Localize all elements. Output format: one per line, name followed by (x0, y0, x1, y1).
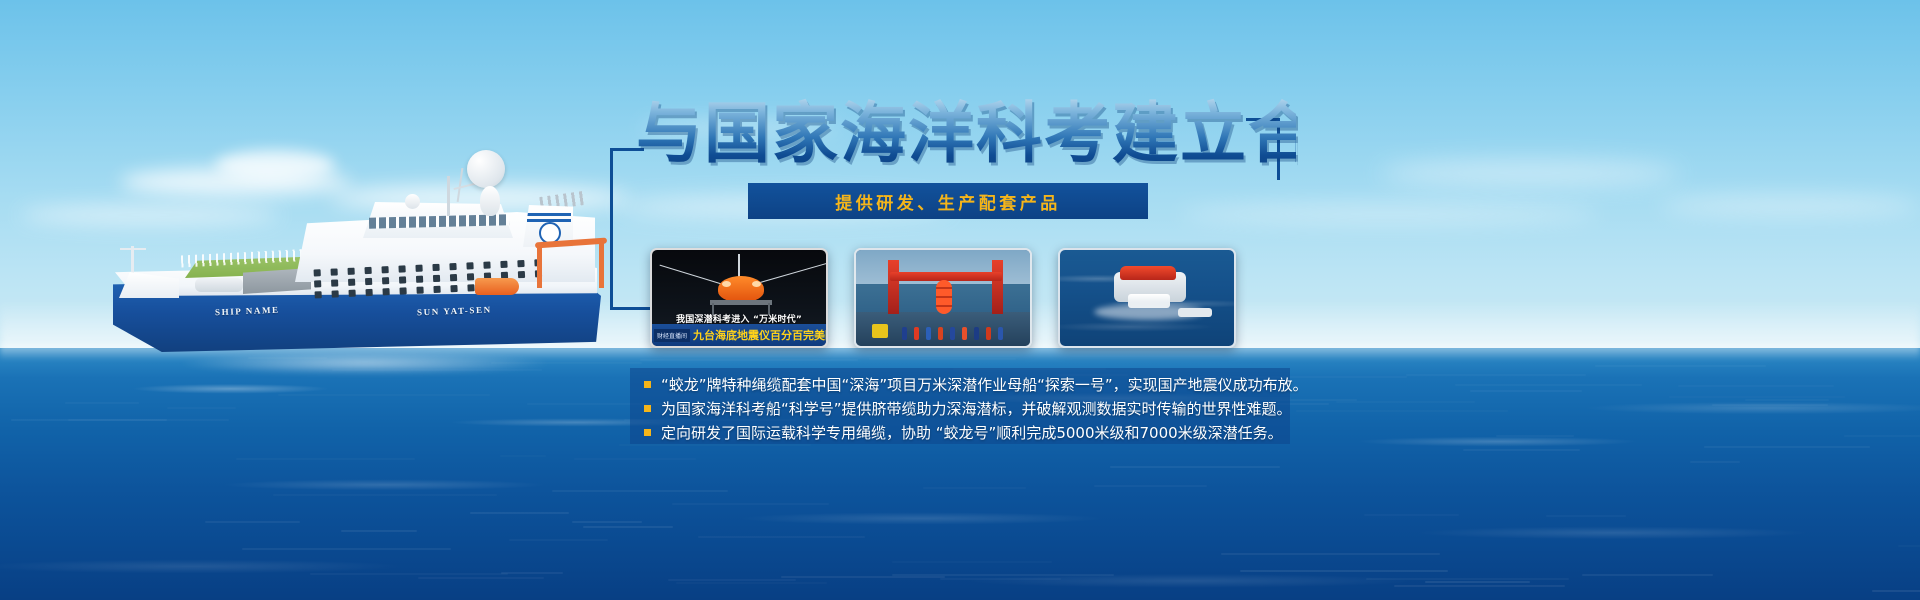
cloud-icon (1180, 205, 1600, 223)
float-string-icon (936, 280, 952, 314)
research-vessel-image: SHIP NAME SUN YAT-SEN (95, 150, 615, 380)
page-title: 与国家海洋科考建立合作 (636, 96, 1296, 172)
list-item: 定向研发了国际运载科学专用绳缆，协助 “蛟龙号”顺利完成5000米级和7000米… (630, 422, 1290, 446)
bullet-marker-icon (644, 405, 651, 412)
deck-equipment (872, 324, 888, 338)
bullet-text: 为国家海洋科考船“科学号”提供脐带缆助力深海潜标，并破解观测数据实时传输的世界性… (661, 398, 1292, 420)
submersible-icon (718, 276, 764, 302)
cloud-icon (1380, 160, 1680, 186)
thumbnail-deck-crane[interactable] (854, 248, 1032, 348)
subtitle-text: 提供研发、生产配套产品 (835, 189, 1061, 214)
bullet-marker-icon (644, 381, 651, 388)
thumbnail-strip: 我国深潜科考进入 “万米时代” 财经直播间 九台海底地震仪百分百完美回收 (650, 248, 1236, 348)
satellite-radome-small-icon (480, 186, 500, 216)
ship-mast (447, 176, 450, 216)
crane-leg (537, 244, 542, 288)
submersible-viewport (722, 281, 731, 287)
bullet-panel: “蛟龙”牌特种绳缆配套中国“深海”项目万米深潜作业母船“探索一号”，实现国产地震… (630, 368, 1290, 444)
banner-stage: SHIP NAME SUN YAT-SEN 与国家海洋科考建立合作 提供研发、生… (0, 0, 1920, 600)
lifeboat-icon (475, 278, 519, 295)
thumbnail-caption-bar: 财经直播间 九台海底地震仪百分百完美回收 (652, 324, 826, 346)
crane-leg (888, 260, 899, 314)
a-frame-crane (535, 236, 611, 284)
submersible-viewport (752, 281, 761, 287)
launch-frame (710, 300, 772, 305)
crane-leg (599, 242, 604, 288)
thumbnail-submersible-recovery[interactable] (1058, 248, 1236, 348)
winch-cable (738, 254, 740, 278)
submersible-icon (1120, 266, 1176, 280)
thumbnail-deep-sea-news[interactable]: 我国深潜科考进入 “万米时代” 财经直播间 九台海底地震仪百分百完美回收 (650, 248, 828, 348)
bullet-marker-icon (644, 429, 651, 436)
rescue-boat-icon (1178, 308, 1212, 317)
subtitle-bar: 提供研发、生产配套产品 (748, 183, 1148, 219)
radar-dome-icon (405, 194, 420, 209)
crane-leg (992, 260, 1003, 314)
deck-winch (195, 278, 243, 292)
list-item: 为国家海洋科考船“科学号”提供脐带缆助力深海潜标，并破解观测数据实时传输的世界性… (630, 398, 1290, 422)
satellite-radome-icon (467, 150, 505, 188)
list-item: “蛟龙”牌特种绳缆配套中国“深海”项目万米深潜作业母船“探索一号”，实现国产地震… (630, 374, 1290, 398)
bullet-text: “蛟龙”牌特种绳缆配套中国“深海”项目万米深潜作业母船“探索一号”，实现国产地震… (661, 374, 1308, 396)
thumbnail-caption-tag: 财经直播间 (654, 329, 690, 342)
headline-container: 与国家海洋科考建立合作 (636, 96, 1296, 176)
thumbnail-caption-bottom: 九台海底地震仪百分百完美回收 (693, 327, 828, 343)
bracket-left-rule (610, 148, 613, 310)
crane-arm (535, 237, 607, 248)
bullet-text: 定向研发了国际运载科学专用绳缆，协助 “蛟龙号”顺利完成5000米级和7000米… (661, 422, 1283, 444)
cloud-icon (1660, 196, 1920, 216)
